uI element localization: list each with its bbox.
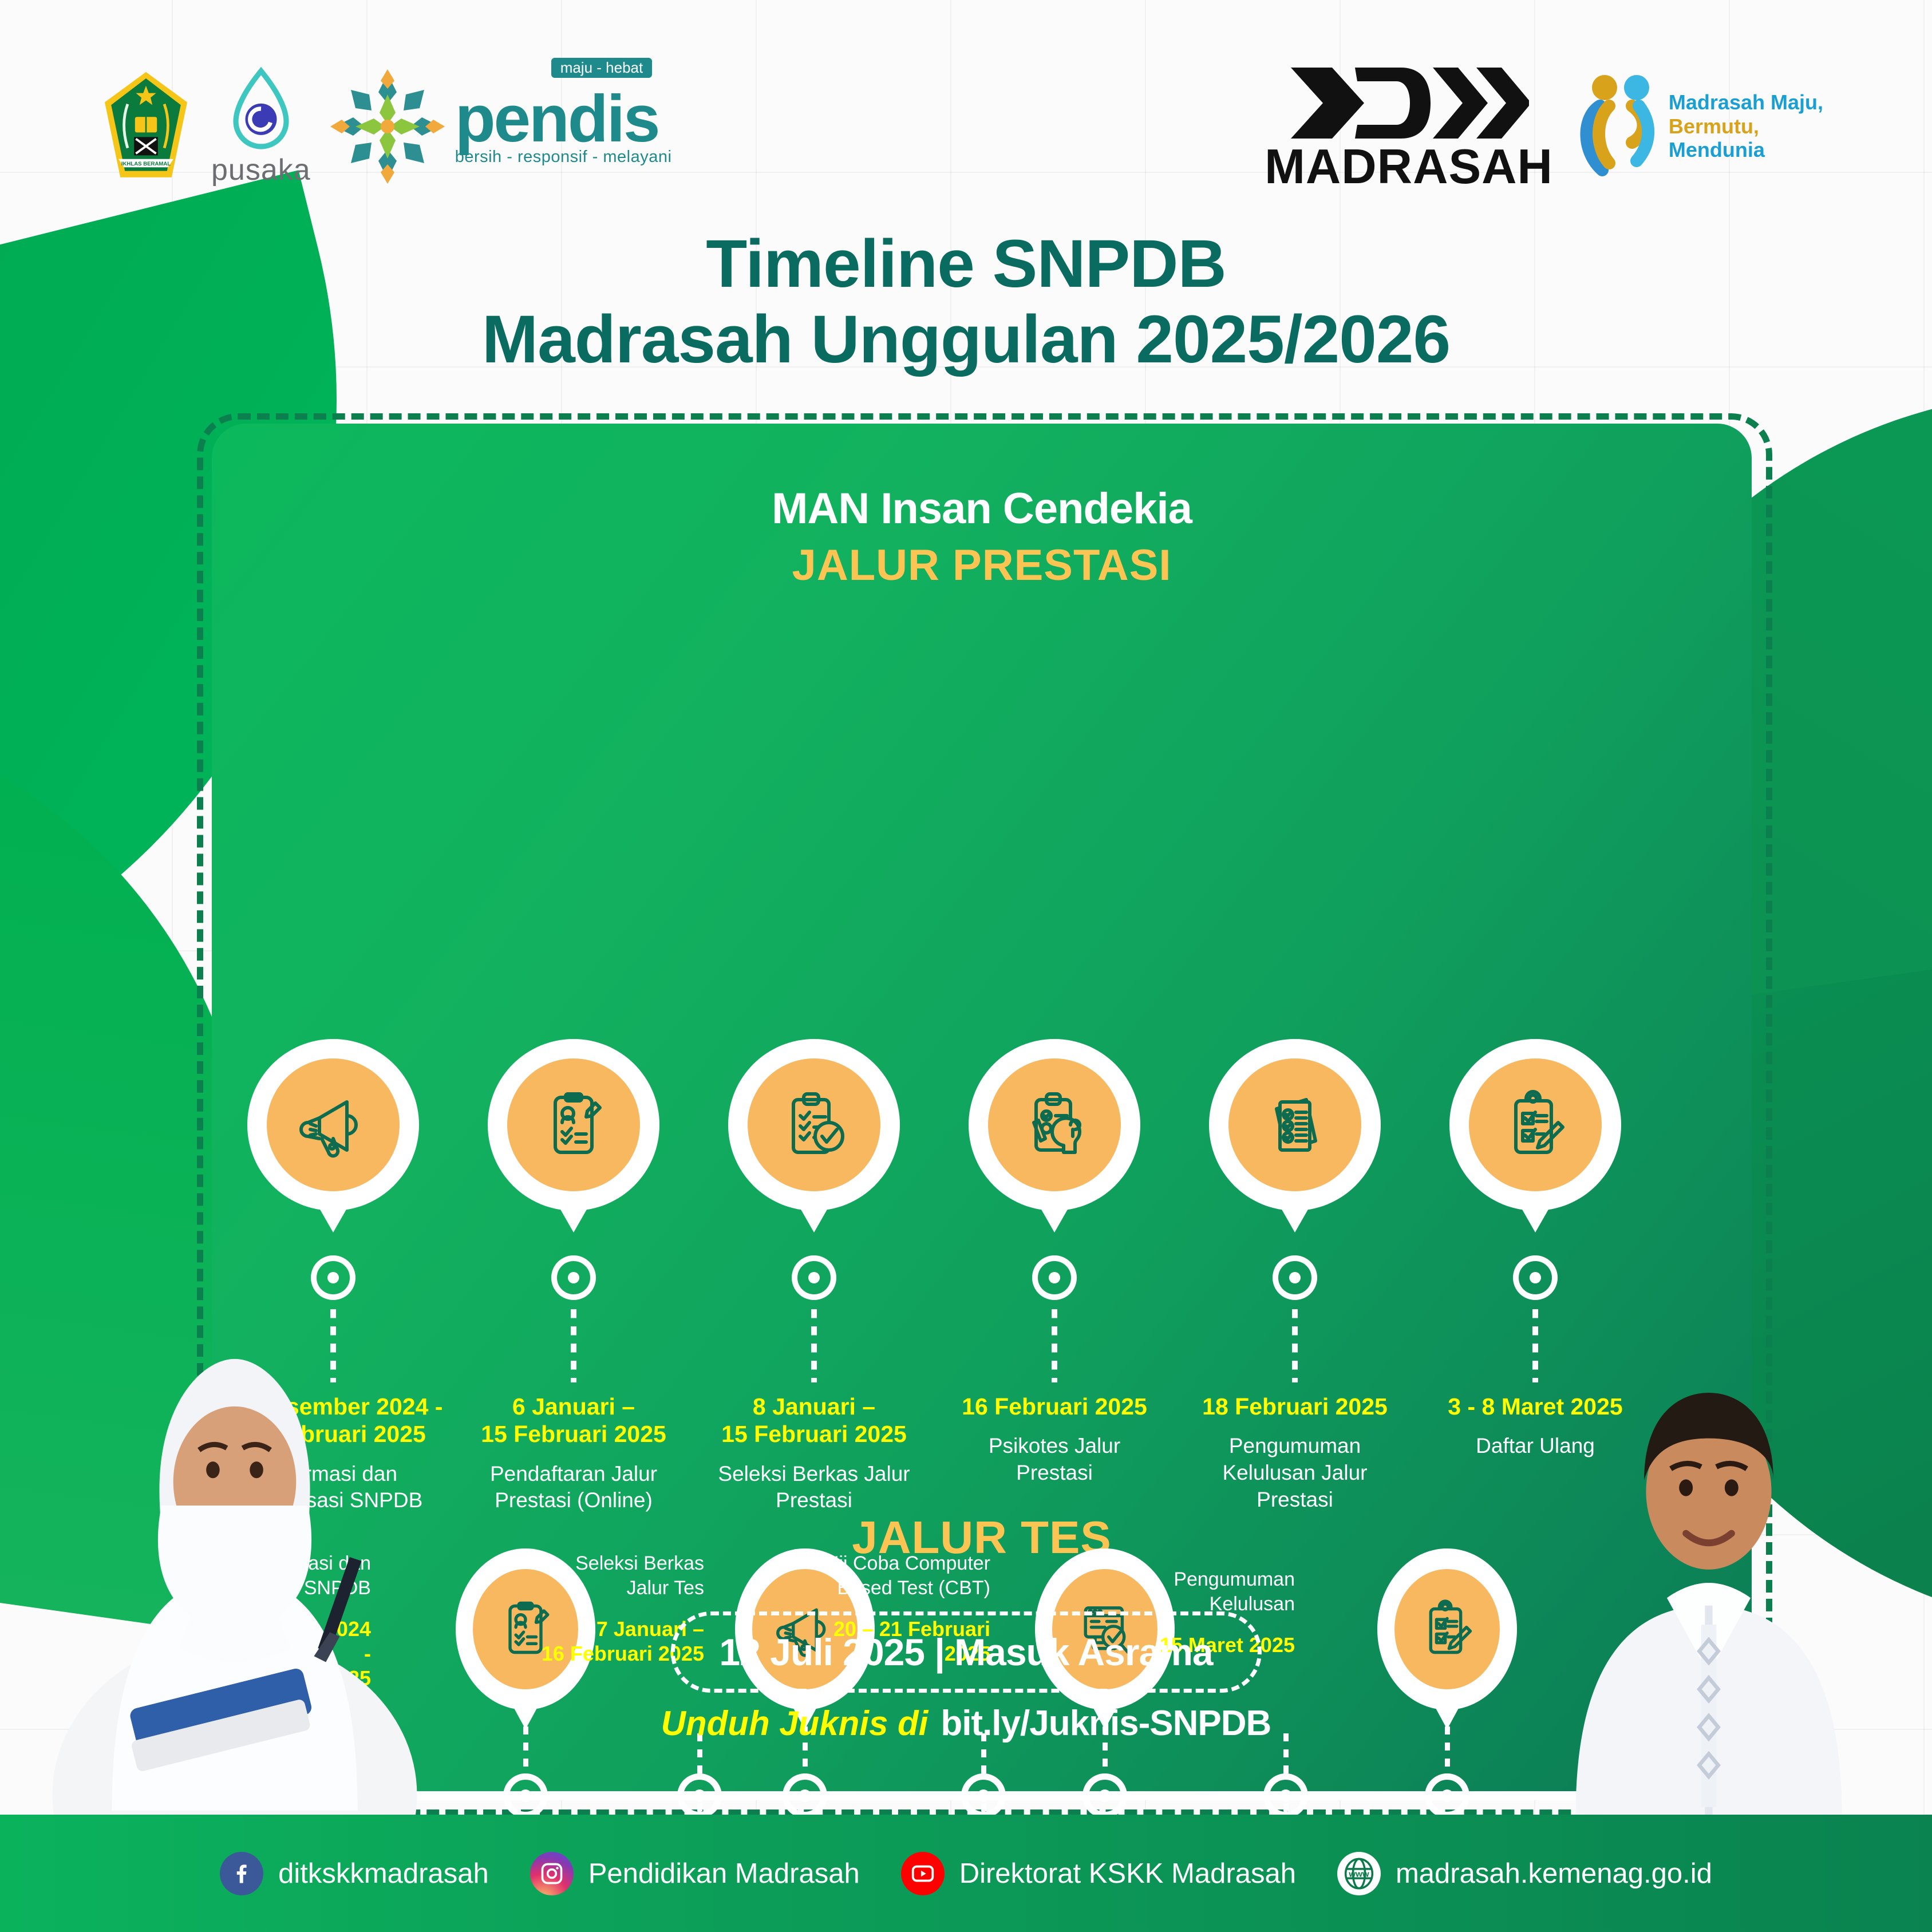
masuk-asrama-pill: 12 Juli 2025 | Masuk Asrama (670, 1611, 1261, 1693)
footer-instagram[interactable]: Pendidikan Madrasah (530, 1852, 860, 1895)
mbm-line-2: Bermutu, (1669, 114, 1823, 138)
prestasi-step-5-bubble (1209, 1039, 1381, 1211)
prestasi-step-4-node (1032, 1255, 1077, 1300)
prestasi-step-2[interactable]: 6 Januari –15 Februari 2025 Pendaftaran … (451, 1039, 697, 1514)
pendis-logo: maju - hebat pendis bersih - responsif -… (330, 69, 672, 184)
tes-node-8 (1425, 1773, 1469, 1818)
infographic-canvas: IKHLAS BERAMAL pusaka (0, 0, 1932, 1932)
download-prefix-label: Unduh Juknis di (661, 1704, 929, 1743)
download-juknis[interactable]: Unduh Juknis di bit.ly/Juknis-SNPDB (661, 1703, 1271, 1744)
tes-node-4 (783, 1773, 827, 1818)
footer-youtube-label: Direktorat KSKK Madrasah (959, 1858, 1296, 1890)
prestasi-step-2-bubble (488, 1039, 659, 1211)
www-icon[interactable]: www (1337, 1852, 1381, 1895)
prestasi-heading-main: MAN Insan Cendekia (212, 484, 1752, 534)
footer-facebook-label: ditkskkmadrasah (278, 1858, 489, 1890)
prestasi-step-2-label: Pendaftaran JalurPrestasi (Online) (451, 1461, 697, 1514)
footer-youtube[interactable]: Direktorat KSKK Madrasah (901, 1852, 1296, 1895)
header-logos-right: MADRASAH Madrasah Maju, Bermutu, Menduni… (1265, 63, 1823, 189)
prestasi-step-3-node (792, 1255, 836, 1300)
clipboard-pencil-icon (1394, 1569, 1500, 1689)
youtube-icon[interactable] (901, 1852, 945, 1895)
madrasah-wordmark: MADRASAH (1265, 145, 1553, 189)
pendis-badge: maju - hebat (551, 58, 653, 78)
madrasah-logo: MADRASAH (1265, 63, 1553, 189)
tes-top-step-2-label: Seleksi BerkasJalur Tes (515, 1551, 704, 1601)
prestasi-step-5-label: PengumumanKelulusan JalurPrestasi (1172, 1433, 1418, 1513)
prestasi-step-3-dots (811, 1309, 817, 1382)
madrasah-maju-logo: Madrasah Maju, Bermutu, Mendunia (1579, 72, 1823, 180)
pendis-tagline: bersih - responsif - melayani (455, 149, 672, 164)
prestasi-step-5[interactable]: 18 Februari 2025 PengumumanKelulusan Jal… (1172, 1039, 1418, 1513)
tes-axis-dotted-segment (1053, 1791, 1225, 1800)
prestasi-step-3-bubble (728, 1039, 900, 1211)
madrasah-chevron-icon (1289, 63, 1529, 143)
form-register-icon (507, 1058, 640, 1191)
prestasi-step-6-bubble (1449, 1039, 1621, 1211)
tes-node-6 (1082, 1773, 1127, 1818)
psychology-test-icon (988, 1058, 1121, 1191)
prestasi-step-3-label: Seleksi Berkas JalurPrestasi (691, 1461, 937, 1514)
prestasi-heading-sub: JALUR PRESTASI (212, 540, 1752, 590)
madrasah-maju-figure-icon (1579, 72, 1660, 180)
footer-bar: ditkskkmadrasah Pendidikan Madrasah Dire… (0, 1815, 1932, 1932)
pusaka-label: pusaka (211, 153, 311, 187)
pendis-wordmark: maju - hebat pendis bersih - responsif -… (455, 89, 672, 164)
prestasi-heading: MAN Insan Cendekia JALUR PRESTASI (212, 484, 1752, 590)
tes-connector-label-up-4 (1283, 1733, 1289, 1775)
footer-website-label: madrasah.kemenag.go.id (1396, 1858, 1712, 1890)
prestasi-step-5-date: 18 Februari 2025 (1172, 1393, 1418, 1420)
clipboard-pencil-icon (1469, 1058, 1602, 1191)
tes-top-step-4-bubble[interactable] (1377, 1548, 1517, 1710)
megaphone-icon (267, 1058, 400, 1191)
prestasi-step-2-dots (571, 1309, 576, 1382)
prestasi-step-3[interactable]: 8 Januari –15 Februari 2025 Seleksi Berk… (691, 1039, 937, 1514)
student-female-photo (34, 1299, 435, 1815)
pusaka-logo: pusaka (211, 66, 311, 187)
pendis-ornament-icon (330, 69, 445, 184)
prestasi-step-2-node (551, 1255, 596, 1300)
tes-top-step-4-label: PengumumanKelulusan (1106, 1567, 1295, 1617)
kemenag-logo-icon: IKHLAS BERAMAL (100, 69, 192, 184)
prestasi-step-6-node (1513, 1255, 1558, 1300)
pusaka-drop-icon (230, 66, 293, 152)
madrasah-maju-tagline: Madrasah Maju, Bermutu, Mendunia (1669, 90, 1823, 161)
mbm-line-1: Madrasah Maju, (1669, 90, 1823, 114)
facebook-icon[interactable] (220, 1852, 263, 1895)
clipboard-check-icon (748, 1058, 880, 1191)
prestasi-step-2-date: 6 Januari –15 Februari 2025 (451, 1393, 697, 1448)
prestasi-step-4-bubble (969, 1039, 1140, 1211)
instagram-icon[interactable] (530, 1852, 574, 1895)
documents-check-icon (1228, 1058, 1361, 1191)
tes-node-2 (503, 1773, 548, 1818)
download-link-label[interactable]: bit.ly/Juknis-SNPDB (941, 1703, 1271, 1744)
svg-text:IKHLAS BERAMAL: IKHLAS BERAMAL (121, 161, 171, 167)
header-logos-left: IKHLAS BERAMAL pusaka (100, 66, 671, 187)
prestasi-step-3-date: 8 Januari –15 Februari 2025 (691, 1393, 937, 1448)
prestasi-step-4-dots (1052, 1309, 1057, 1382)
title-line-2: Madrasah Unggulan 2025/2026 (0, 302, 1932, 377)
prestasi-step-5-dots (1292, 1309, 1298, 1382)
prestasi-step-1-bubble (247, 1039, 419, 1211)
pendis-main-text: pendis (455, 89, 672, 148)
title-line-1: Timeline SNPDB (0, 226, 1932, 302)
student-male-photo (1514, 1340, 1903, 1815)
footer-facebook[interactable]: ditkskkmadrasah (220, 1852, 489, 1895)
prestasi-step-4[interactable]: 16 Februari 2025 Psikotes JalurPrestasi (931, 1039, 1178, 1487)
mbm-line-3: Mendunia (1669, 138, 1823, 161)
footer-instagram-label: Pendidikan Madrasah (588, 1858, 860, 1890)
masuk-asrama-text: 12 Juli 2025 | Masuk Asrama (719, 1631, 1212, 1673)
prestasi-step-4-label: Psikotes JalurPrestasi (931, 1433, 1178, 1486)
prestasi-step-1-node (311, 1255, 355, 1300)
prestasi-step-4-date: 16 Februari 2025 (931, 1393, 1178, 1420)
prestasi-step-5-node (1273, 1255, 1317, 1300)
page-title: Timeline SNPDB Madrasah Unggulan 2025/20… (0, 226, 1932, 377)
footer-website[interactable]: www madrasah.kemenag.go.id (1337, 1852, 1712, 1895)
svg-text:www: www (1348, 1869, 1369, 1879)
tes-top-step-3-label: Uji Coba ComputerBased Test (CBT) (801, 1551, 990, 1601)
